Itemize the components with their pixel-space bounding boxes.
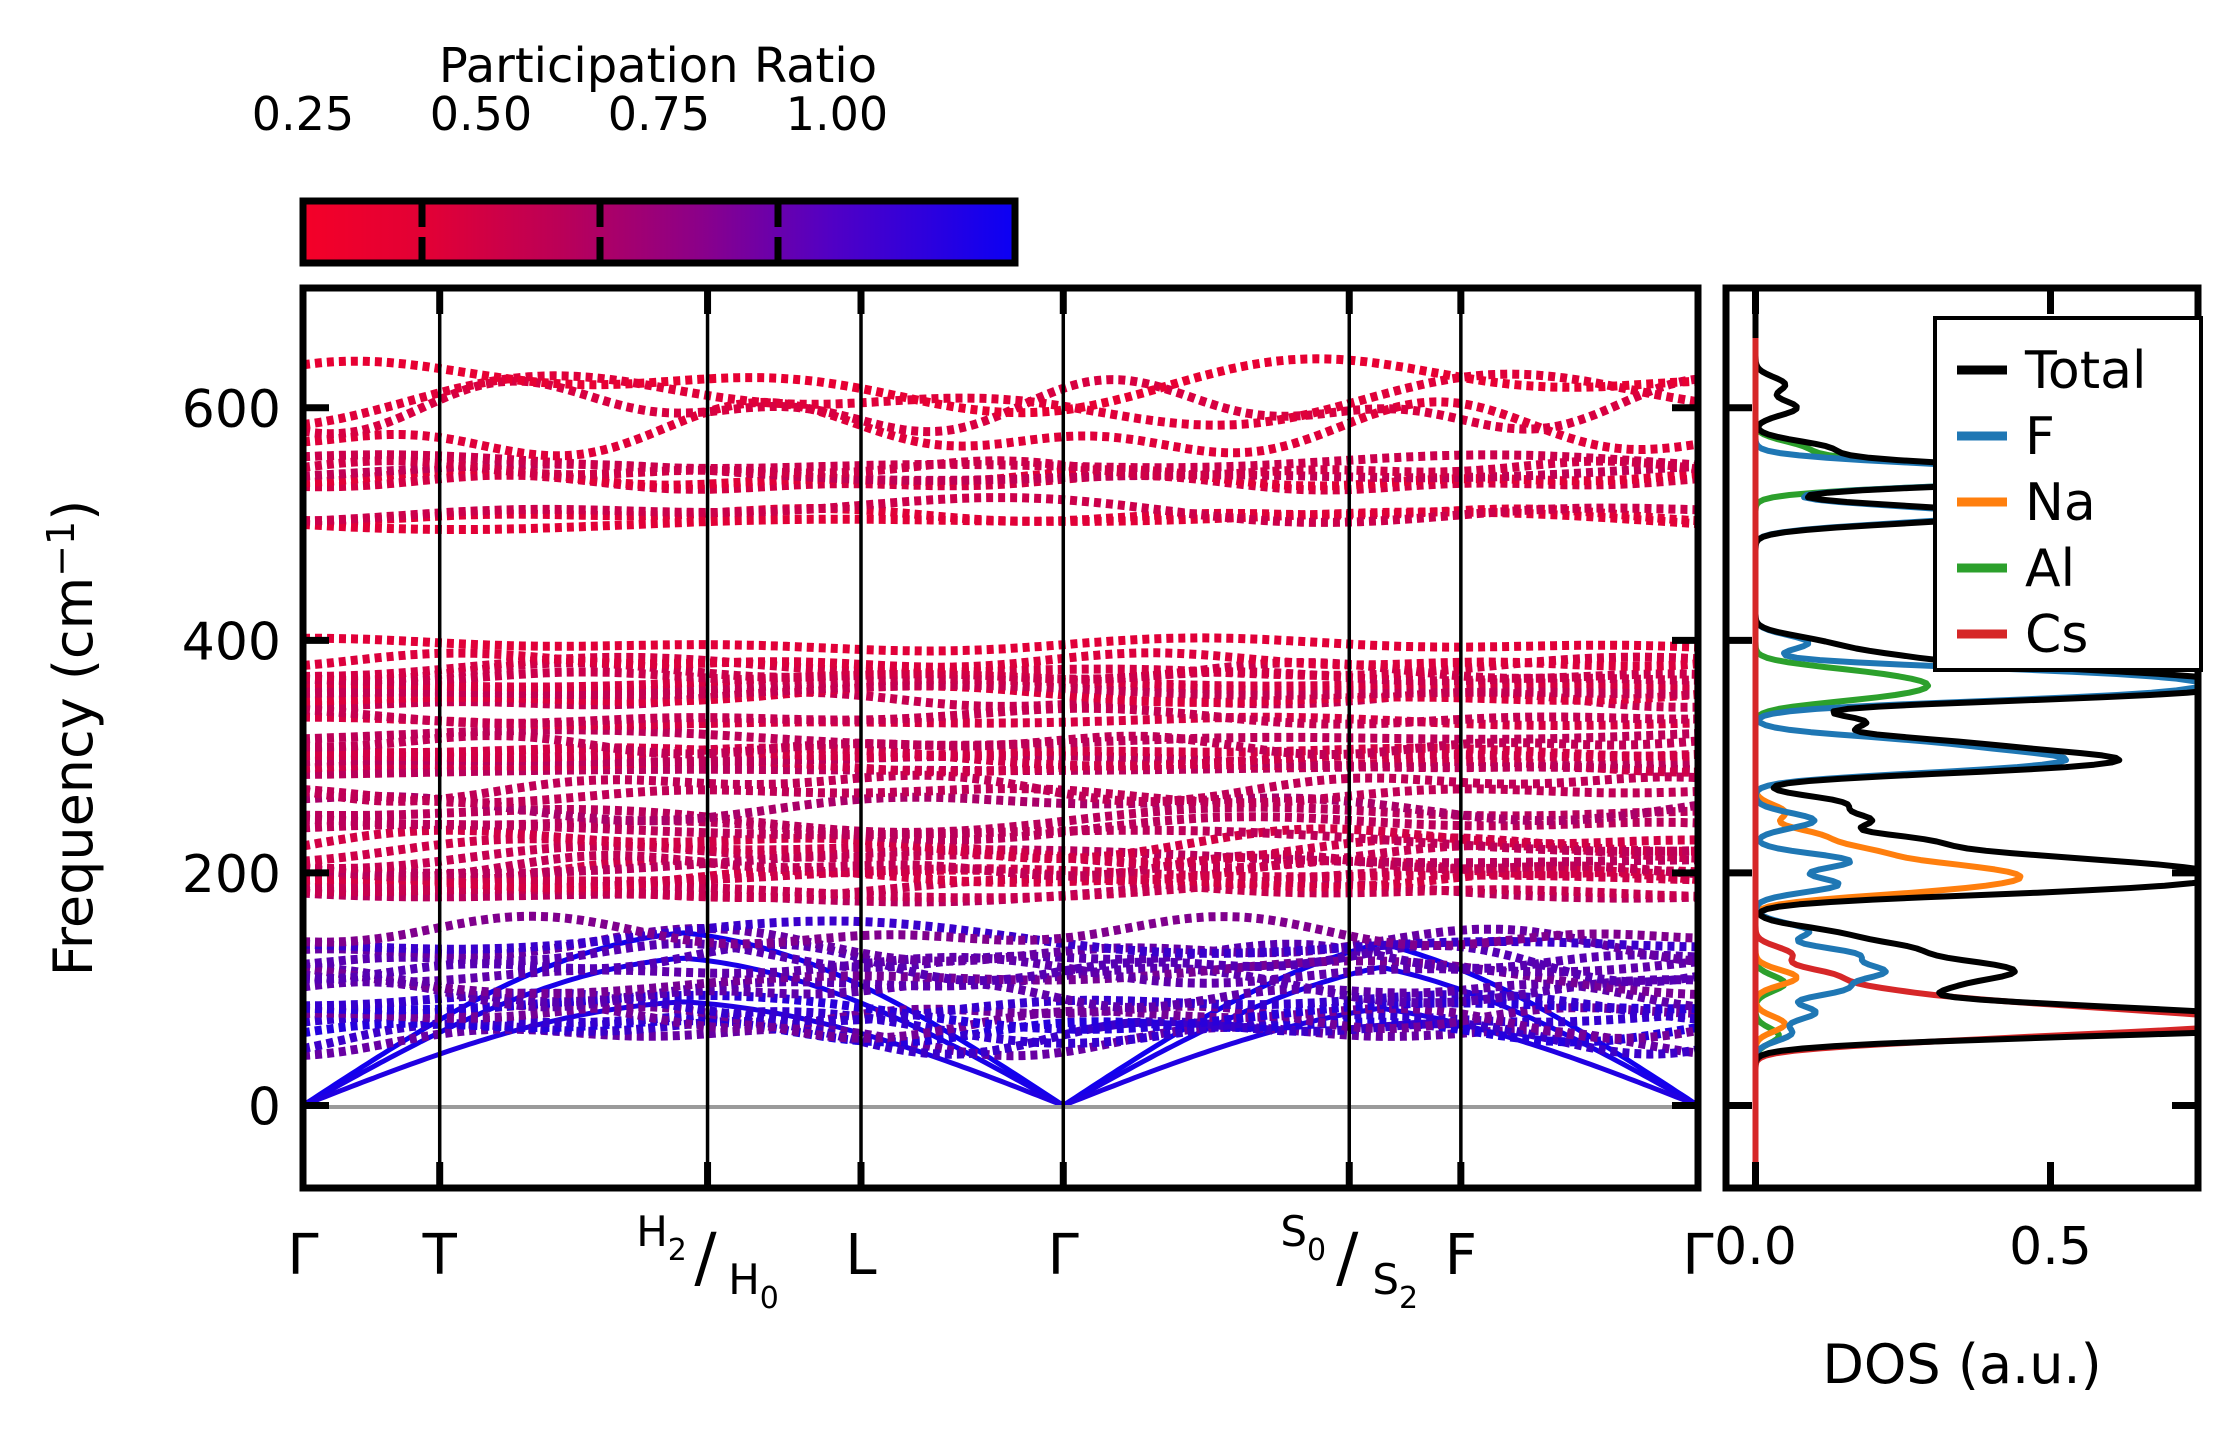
legend-label-na: Na [2025,473,2096,533]
legend-label-al: Al [2025,539,2075,599]
legend-label-f: F [2025,407,2055,467]
band-curve [303,359,1698,413]
band-x-tick-label-fraction: S0/S2 [1280,1207,1418,1316]
band-curve [303,379,1698,434]
svg-text:H2: H2 [636,1207,687,1268]
dos-x-tick-label: 0.0 [1714,1217,1797,1277]
colorbar-tick-label-2: 0.75 [608,87,710,141]
colorbar-tick-label-1: 0.50 [430,87,532,141]
band-x-tick-label: T [422,1223,458,1288]
svg-text:/: / [694,1219,717,1296]
band-x-tick-label-fraction: H2/H0 [636,1207,779,1316]
band-x-tick-labels: ΓTH2/H0LΓS0/S2FΓ [287,1207,1713,1316]
dos-legend[interactable]: TotalFNaAlCs [1935,318,2201,670]
band-structure-axes: 0200400600 ΓTH2/H0LΓS0/S2FΓ Frequency (c… [39,288,1714,1316]
band-y-tick-label: 200 [182,845,281,905]
band-y-tick-label: 600 [182,380,281,440]
colorbar-tick-label-0: 0.25 [252,87,354,141]
svg-text:H0: H0 [728,1255,779,1316]
colorbar-gradient[interactable] [303,201,1015,263]
legend-label-total: Total [2024,341,2146,401]
dos-x-axis-label: DOS (a.u.) [1822,1333,2101,1396]
band-x-tick-label: L [845,1223,876,1288]
band-x-tick-label: F [1445,1223,1477,1288]
dos-x-tick-labels: 0.00.5 [1714,1217,2092,1277]
colorbar-tick-label-3: 1.00 [786,87,888,141]
band-y-axis-label: Frequency (cm−1) [39,500,105,977]
band-curve [303,638,1698,651]
legend-label-cs: Cs [2025,605,2088,665]
band-y-tick-label: 400 [182,612,281,672]
colorbar-title: Participation Ratio [439,38,877,94]
svg-text:S2: S2 [1372,1255,1418,1316]
figure-svg: Participation Ratio 0.25 0.50 0.75 1.00 … [0,0,2222,1455]
dos-axes: 0.00.5 DOS (a.u.) TotalFNaAlCs [1714,288,2222,1396]
figure-canvas: Participation Ratio 0.25 0.50 0.75 1.00 … [0,0,2222,1455]
band-y-tick-label: 0 [248,1077,281,1137]
band-y-tick-labels: 0200400600 [182,380,281,1138]
dos-x-tick-label: 0.5 [2009,1217,2092,1277]
band-x-tick-label: Γ [1682,1223,1713,1288]
colorbar-group: Participation Ratio 0.25 0.50 0.75 1.00 [252,38,1015,263]
svg-text:/: / [1336,1219,1359,1296]
svg-text:S0: S0 [1280,1207,1326,1268]
band-x-tick-label: Γ [287,1223,318,1288]
band-x-tick-label: Γ [1048,1223,1079,1288]
band-curves [303,359,1698,1106]
